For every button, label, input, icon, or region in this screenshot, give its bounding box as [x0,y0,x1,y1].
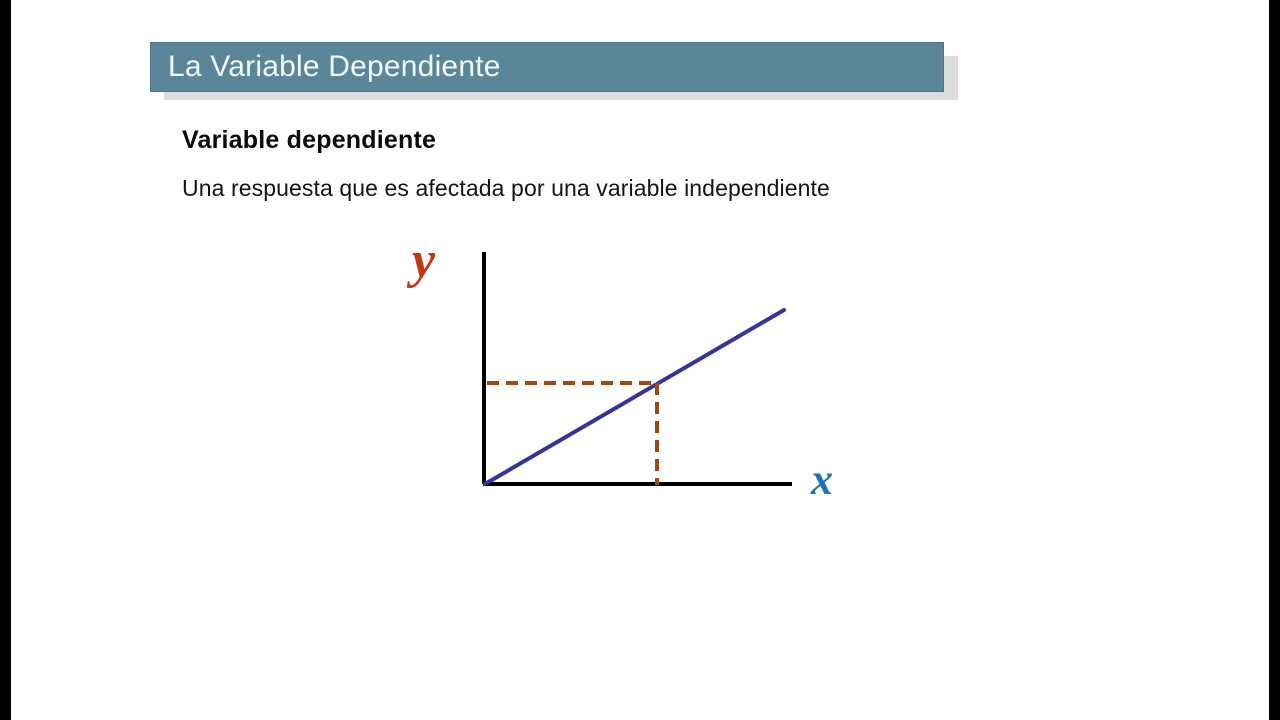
title-banner: La Variable Dependiente [150,42,944,92]
page-title: La Variable Dependiente [151,50,501,84]
slide-canvas: La Variable Dependiente Variable dependi… [0,0,1280,720]
relation-line [485,310,784,484]
scatter-axes-figure: y x [400,235,870,520]
definition-text: Una respuesta que es afectada por una va… [182,172,882,204]
y-axis-label: y [412,235,435,287]
letterbox-bar-right [1269,0,1280,720]
chart-svg [400,235,870,520]
letterbox-bar-left [0,0,11,720]
section-subheading: Variable dependiente [182,126,436,155]
x-axis-label: x [811,458,833,502]
